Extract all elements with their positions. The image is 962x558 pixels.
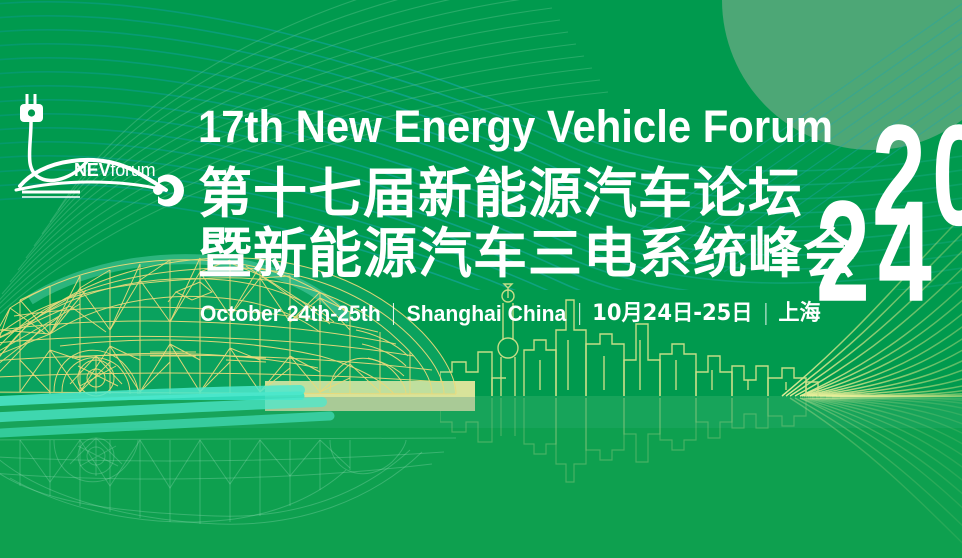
info-date-english: October 24th-25th (200, 301, 381, 327)
info-date-chinese: 10月24日-25日 (592, 301, 752, 327)
charging-plug-icon (27, 94, 35, 104)
plug-hole-icon (28, 109, 35, 116)
info-city-english: Shanghai China (407, 301, 567, 327)
info-separator-1 (393, 303, 394, 325)
year-digit-1: 0 (932, 104, 962, 248)
event-poster: NEVforum 17th New Energy Vehicle Forum 第… (0, 0, 962, 558)
event-info-line: October 24th-25th Shanghai China 10月24日-… (200, 301, 821, 327)
info-separator-2 (579, 303, 580, 325)
year-graphic: 2 0 2 4 (826, 108, 956, 308)
nevforum-logo-mark (6, 78, 184, 208)
logo-wordmark: NEVforum (74, 160, 155, 181)
title-chinese-line1: 第十七届新能源汽车论坛 (198, 166, 803, 222)
info-city-chinese: 上海 (778, 301, 820, 327)
title-chinese-line2: 暨新能源汽车三电系统峰会 (198, 226, 858, 282)
poster-content: NEVforum 17th New Energy Vehicle Forum 第… (0, 0, 962, 558)
year-digit-3: 4 (878, 180, 932, 324)
year-digit-2: 2 (816, 180, 870, 324)
info-separator-3 (765, 303, 766, 325)
logo-text-bold: NEV (74, 160, 110, 180)
title-english: 17th New Energy Vehicle Forum (198, 104, 833, 150)
logo-text-light: forum (110, 160, 155, 180)
nevforum-logo: NEVforum (6, 78, 184, 208)
car-body-line (16, 182, 164, 190)
